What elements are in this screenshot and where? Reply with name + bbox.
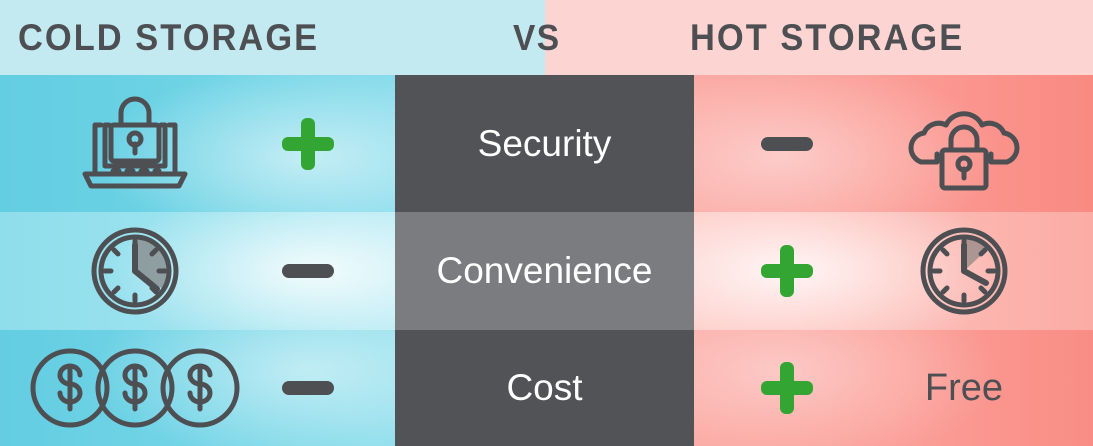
hot-cost-value: Free (834, 330, 1093, 446)
hot-storage-column: Free (694, 75, 1093, 446)
clock-icon (0, 212, 270, 330)
free-label: Free (925, 367, 1003, 410)
hot-cell-convenience (694, 212, 1093, 330)
minus-icon (282, 381, 334, 395)
hot-cost-sign (734, 330, 839, 446)
plus-icon (761, 245, 813, 297)
plus-icon (282, 118, 334, 170)
cold-cell-cost (0, 330, 395, 446)
header-bar: COLD STORAGE VS HOT STORAGE (0, 0, 1093, 75)
cold-cell-convenience (0, 212, 395, 330)
criteria-label: Cost (395, 367, 694, 409)
cold-cost-sign (255, 330, 360, 446)
laptop-lock-icon (0, 75, 270, 212)
minus-icon (761, 137, 813, 151)
criteria-column: Security Convenience Cost (395, 75, 694, 446)
cold-cell-security (0, 75, 395, 212)
minus-icon (282, 264, 334, 278)
criteria-label: Convenience (395, 250, 694, 292)
hot-cell-security (694, 75, 1093, 212)
dollar-coins-icon (0, 330, 270, 446)
cloud-lock-icon (834, 75, 1093, 212)
header-right-panel: VS HOT STORAGE (545, 0, 1093, 75)
cold-convenience-sign (255, 212, 360, 330)
page-title-hot-storage: HOT STORAGE (690, 17, 964, 59)
header-left-panel: COLD STORAGE (0, 0, 545, 75)
cold-storage-column (0, 75, 395, 446)
comparison-infographic: COLD STORAGE VS HOT STORAGE (0, 0, 1093, 446)
cold-security-sign (255, 75, 360, 212)
criteria-cell-convenience: Convenience (395, 212, 694, 330)
hot-cell-cost: Free (694, 330, 1093, 446)
hot-convenience-sign (734, 212, 839, 330)
hot-security-sign (734, 75, 839, 212)
page-title-cold-storage: COLD STORAGE (18, 17, 319, 59)
criteria-label: Security (395, 123, 694, 165)
plus-icon (761, 362, 813, 414)
criteria-cell-cost: Cost (395, 330, 694, 446)
page-title-vs: VS (513, 17, 560, 59)
criteria-cell-security: Security (395, 75, 694, 212)
comparison-body: Security Convenience Cost (0, 75, 1093, 446)
clock-icon (834, 212, 1093, 330)
